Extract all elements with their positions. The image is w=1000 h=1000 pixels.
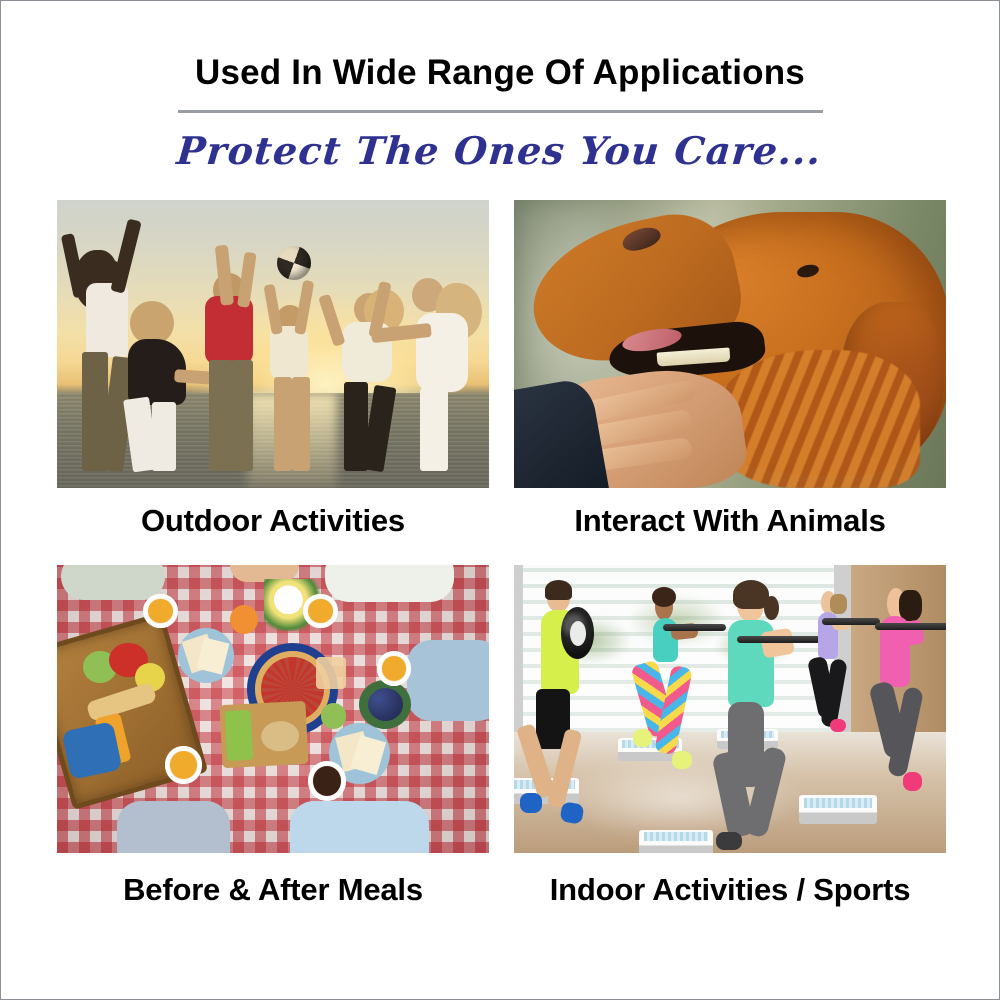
juice-cup xyxy=(143,594,178,629)
gym-participant xyxy=(799,591,877,770)
blueberry-bowl xyxy=(359,680,411,729)
barbell xyxy=(875,623,946,630)
golden-retriever-petting-photo xyxy=(514,200,946,488)
sandwich-plate xyxy=(178,628,234,683)
weight-plate xyxy=(561,607,595,659)
picnic-overhead-photo xyxy=(57,565,489,853)
grid-cell-interact-with-animals: Interact With Animals xyxy=(514,200,946,539)
caption-interact-with-animals: Interact With Animals xyxy=(514,488,946,539)
gym-step-aerobics-photo xyxy=(514,565,946,853)
player-silhouette xyxy=(390,252,489,471)
grid-cell-before-after-meals: Before & After Meals xyxy=(57,565,489,908)
juice-cup xyxy=(303,594,338,629)
grid-cell-indoor-activities-sports: Indoor Activities / Sports xyxy=(514,565,946,908)
juice-cup xyxy=(377,651,412,686)
step-platform xyxy=(639,830,712,853)
application-poster: Used In Wide Range Of Applications Prote… xyxy=(0,0,1000,1000)
gym-participant xyxy=(868,588,946,824)
picnic-person xyxy=(290,801,428,853)
dog-eye xyxy=(796,262,820,278)
application-grid: Outdoor Activities xyxy=(57,200,946,908)
caption-before-after-meals: Before & After Meals xyxy=(57,853,489,908)
tagline: Protect The Ones You Care... xyxy=(0,113,1000,173)
grid-row: Before & After Meals xyxy=(57,565,946,908)
orange-fruit xyxy=(230,605,258,634)
dog-neck-fur xyxy=(713,350,920,488)
gym-participant xyxy=(523,585,635,833)
poster-header: Used In Wide Range Of Applications Prote… xyxy=(1,1,999,172)
cutting-board xyxy=(220,701,310,769)
jam-jar xyxy=(316,657,346,689)
picnic-person xyxy=(61,565,165,600)
beach-volleyball-sunset-photo xyxy=(57,200,489,488)
page-title: Used In Wide Range Of Applications xyxy=(1,1,999,93)
caption-outdoor-activities: Outdoor Activities xyxy=(57,488,489,539)
grid-row: Outdoor Activities xyxy=(57,200,946,539)
juice-cup xyxy=(165,746,202,783)
picnic-person xyxy=(407,640,489,721)
picnic-person xyxy=(325,565,455,602)
picnic-person xyxy=(117,801,229,853)
caption-indoor-activities-sports: Indoor Activities / Sports xyxy=(514,853,946,908)
grid-cell-outdoor-activities: Outdoor Activities xyxy=(57,200,489,539)
